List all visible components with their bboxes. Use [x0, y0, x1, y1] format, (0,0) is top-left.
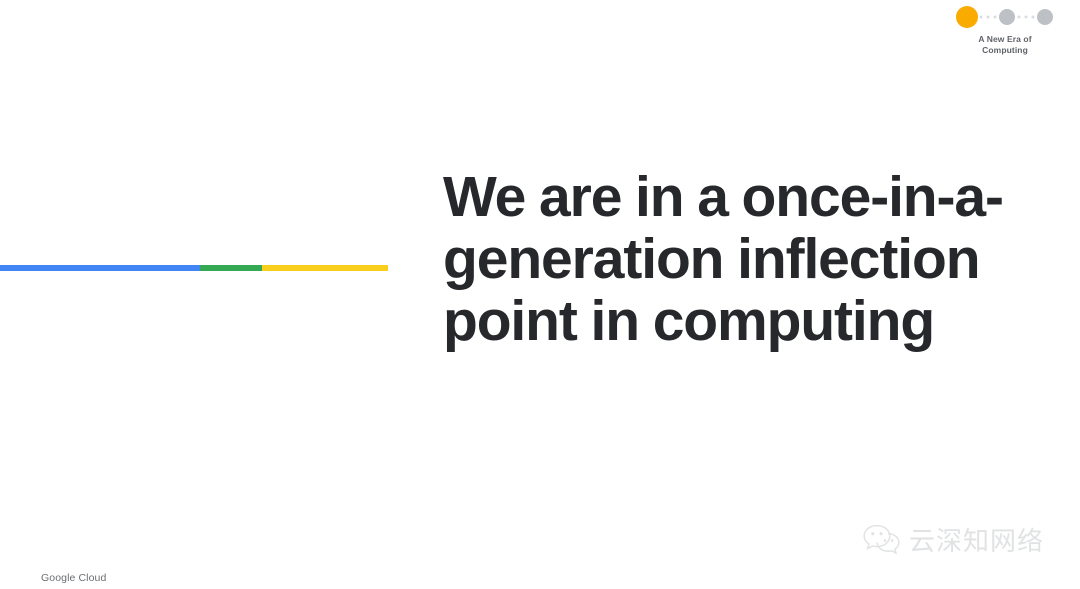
accent-rule-segment-green	[200, 265, 262, 271]
era-badge-caption: A New Era of Computing	[946, 34, 1064, 57]
watermark-text: 云深知网络	[909, 521, 1044, 558]
inactive-dot-2-icon	[1037, 9, 1053, 25]
accent-rule	[0, 265, 388, 271]
accent-rule-segment-blue	[0, 265, 200, 271]
footer-brand-label: Google Cloud	[41, 572, 106, 584]
era-of-computing-badge: A New Era of Computing	[946, 4, 1076, 62]
watermark: 云深知网络	[862, 518, 1052, 560]
era-progress-dots	[946, 4, 1076, 34]
slide-canvas: A New Era of Computing We are in a once-…	[0, 0, 1080, 589]
slide-headline: We are in a once-in-a-generation inflect…	[443, 166, 1018, 352]
accent-rule-segment-yellow	[262, 265, 388, 271]
wechat-icon	[862, 522, 902, 556]
inactive-dot-1-icon	[999, 9, 1015, 25]
active-dot-icon	[956, 6, 978, 28]
